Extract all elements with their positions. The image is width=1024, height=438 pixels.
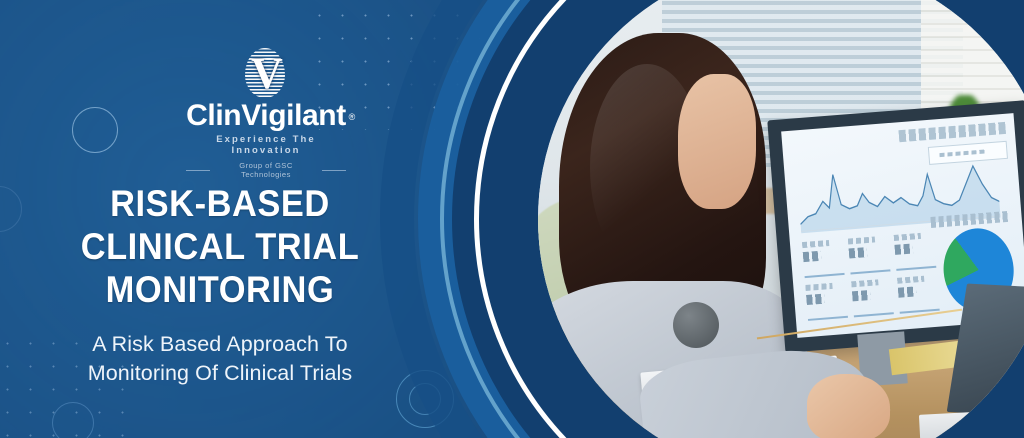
hero-banner: V ClinVigilant ® Experience The Innovati… <box>0 0 1024 438</box>
subhead-line-1: A Risk Based Approach To <box>0 330 440 359</box>
brand-parent-text: Group of GSC Technologies <box>216 161 315 179</box>
striped-v-monogram-icon: V <box>243 48 289 98</box>
page-subtitle: A Risk Based Approach To Monitoring Of C… <box>0 330 440 388</box>
divider-right <box>322 170 346 171</box>
person-hand <box>807 374 890 438</box>
person-face <box>678 74 756 209</box>
brand-tagline: Experience The Innovation <box>186 134 346 156</box>
photo-disc <box>538 0 1024 438</box>
page-title: RISK-BASED CLINICAL TRIAL MONITORING <box>15 182 424 311</box>
dashboard-title-placeholder <box>898 122 1006 143</box>
headline-line-1: RISK-BASED <box>15 182 424 225</box>
brand-parent-line: Group of GSC Technologies <box>186 161 346 179</box>
brand-name-text: ClinVigilant <box>186 99 346 132</box>
brand-name: ClinVigilant ® <box>186 100 346 132</box>
laptop-screen <box>947 283 1024 416</box>
registered-mark: ® <box>349 101 355 133</box>
laptop <box>890 292 1024 438</box>
photo-composition <box>452 0 1024 438</box>
headline-line-3: MONITORING <box>15 268 424 311</box>
headline-line-2: CLINICAL TRIAL <box>15 225 424 268</box>
subhead-line-2: Monitoring Of Clinical Trials <box>0 359 440 388</box>
banner-content: V ClinVigilant ® Experience The Innovati… <box>0 0 470 438</box>
brand-logo[interactable]: V ClinVigilant ® Experience The Innovati… <box>186 48 346 179</box>
laptop-keyboard <box>919 408 1024 438</box>
divider-left <box>186 170 210 171</box>
